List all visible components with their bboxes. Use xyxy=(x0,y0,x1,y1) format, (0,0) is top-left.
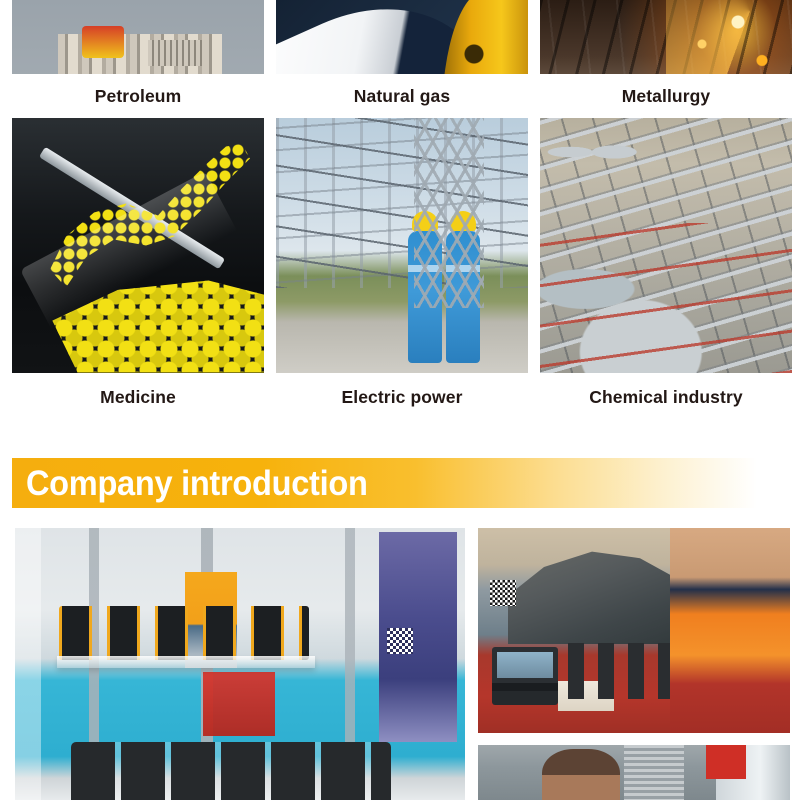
exhibition-booth-display-case-photo xyxy=(15,528,465,800)
industry-application-grid: Petroleum Natural gas Metallurgy xyxy=(0,0,800,418)
industry-cell-electric-power[interactable]: Electric power xyxy=(276,118,528,419)
yellow-hook-marking-shape xyxy=(460,16,494,56)
company-introduction-heading-text: Company introduction xyxy=(12,466,368,501)
oil-rig-structure-shape xyxy=(58,34,222,74)
industry-cell-metallurgy[interactable]: Metallurgy xyxy=(540,0,792,118)
chemical-industry-thumbnail[interactable] xyxy=(540,118,792,373)
medicine-capsule-production-line-photo xyxy=(12,118,264,373)
qr-code-shape xyxy=(490,580,516,606)
medicine-thumbnail[interactable] xyxy=(12,118,264,373)
natural-gas-thumbnail[interactable] xyxy=(276,0,528,74)
metallurgy-thumbnail[interactable] xyxy=(540,0,792,74)
chemical-plant-pipelines-photo xyxy=(540,118,792,373)
storage-tanks-shape xyxy=(546,132,656,172)
gallery-left-image[interactable] xyxy=(15,528,465,800)
industry-row-2: Medicine Electric power Chemical industr… xyxy=(0,118,800,419)
industry-cell-petroleum[interactable]: Petroleum xyxy=(12,0,264,118)
booth-red-poster-shape xyxy=(203,672,275,736)
company-introduction-heading-bar: Company introduction xyxy=(12,458,788,508)
worker-left-shape xyxy=(408,231,442,363)
metallurgy-steel-mill-photo xyxy=(540,0,792,74)
industry-cell-chemical-industry[interactable]: Chemical industry xyxy=(540,118,792,419)
trade-show-product-table-photo xyxy=(478,528,790,733)
company-introduction-gallery xyxy=(15,528,790,800)
industry-label-chemical-industry: Chemical industry xyxy=(540,373,792,419)
glass-shelf-shape xyxy=(57,656,315,668)
handheld-devices-row-shape xyxy=(568,643,778,699)
electric-power-thumbnail[interactable] xyxy=(276,118,528,373)
petroleum-thumbnail[interactable] xyxy=(12,0,264,74)
industry-row-1: Petroleum Natural gas Metallurgy xyxy=(0,0,800,118)
industry-label-medicine: Medicine xyxy=(12,373,264,419)
rugged-phones-row-shape xyxy=(59,606,309,660)
worker-right-shape xyxy=(446,231,480,363)
industry-cell-natural-gas[interactable]: Natural gas xyxy=(276,0,528,118)
industry-label-electric-power: Electric power xyxy=(276,373,528,419)
window-shutter-shape xyxy=(624,745,684,800)
booth-frame-shape xyxy=(716,745,790,800)
industry-label-natural-gas: Natural gas xyxy=(276,74,528,118)
industry-label-metallurgy: Metallurgy xyxy=(540,74,792,118)
petroleum-offshore-platform-photo xyxy=(12,0,264,74)
booth-purple-poster-shape xyxy=(379,532,457,742)
capsule-chain-shape xyxy=(50,144,250,294)
rugged-laptop-shape xyxy=(492,647,558,705)
industry-label-petroleum: Petroleum xyxy=(12,74,264,118)
gallery-right-top-image[interactable] xyxy=(478,528,790,733)
electric-power-substation-workers-photo xyxy=(276,118,528,373)
industry-cell-medicine[interactable]: Medicine xyxy=(12,118,264,419)
gallery-right-column xyxy=(478,528,790,800)
natural-gas-equipment-photo xyxy=(276,0,528,74)
customer-visit-at-booth-photo xyxy=(478,745,790,800)
gallery-right-bottom-image[interactable] xyxy=(478,745,790,800)
product-cases-row-shape xyxy=(71,742,391,800)
